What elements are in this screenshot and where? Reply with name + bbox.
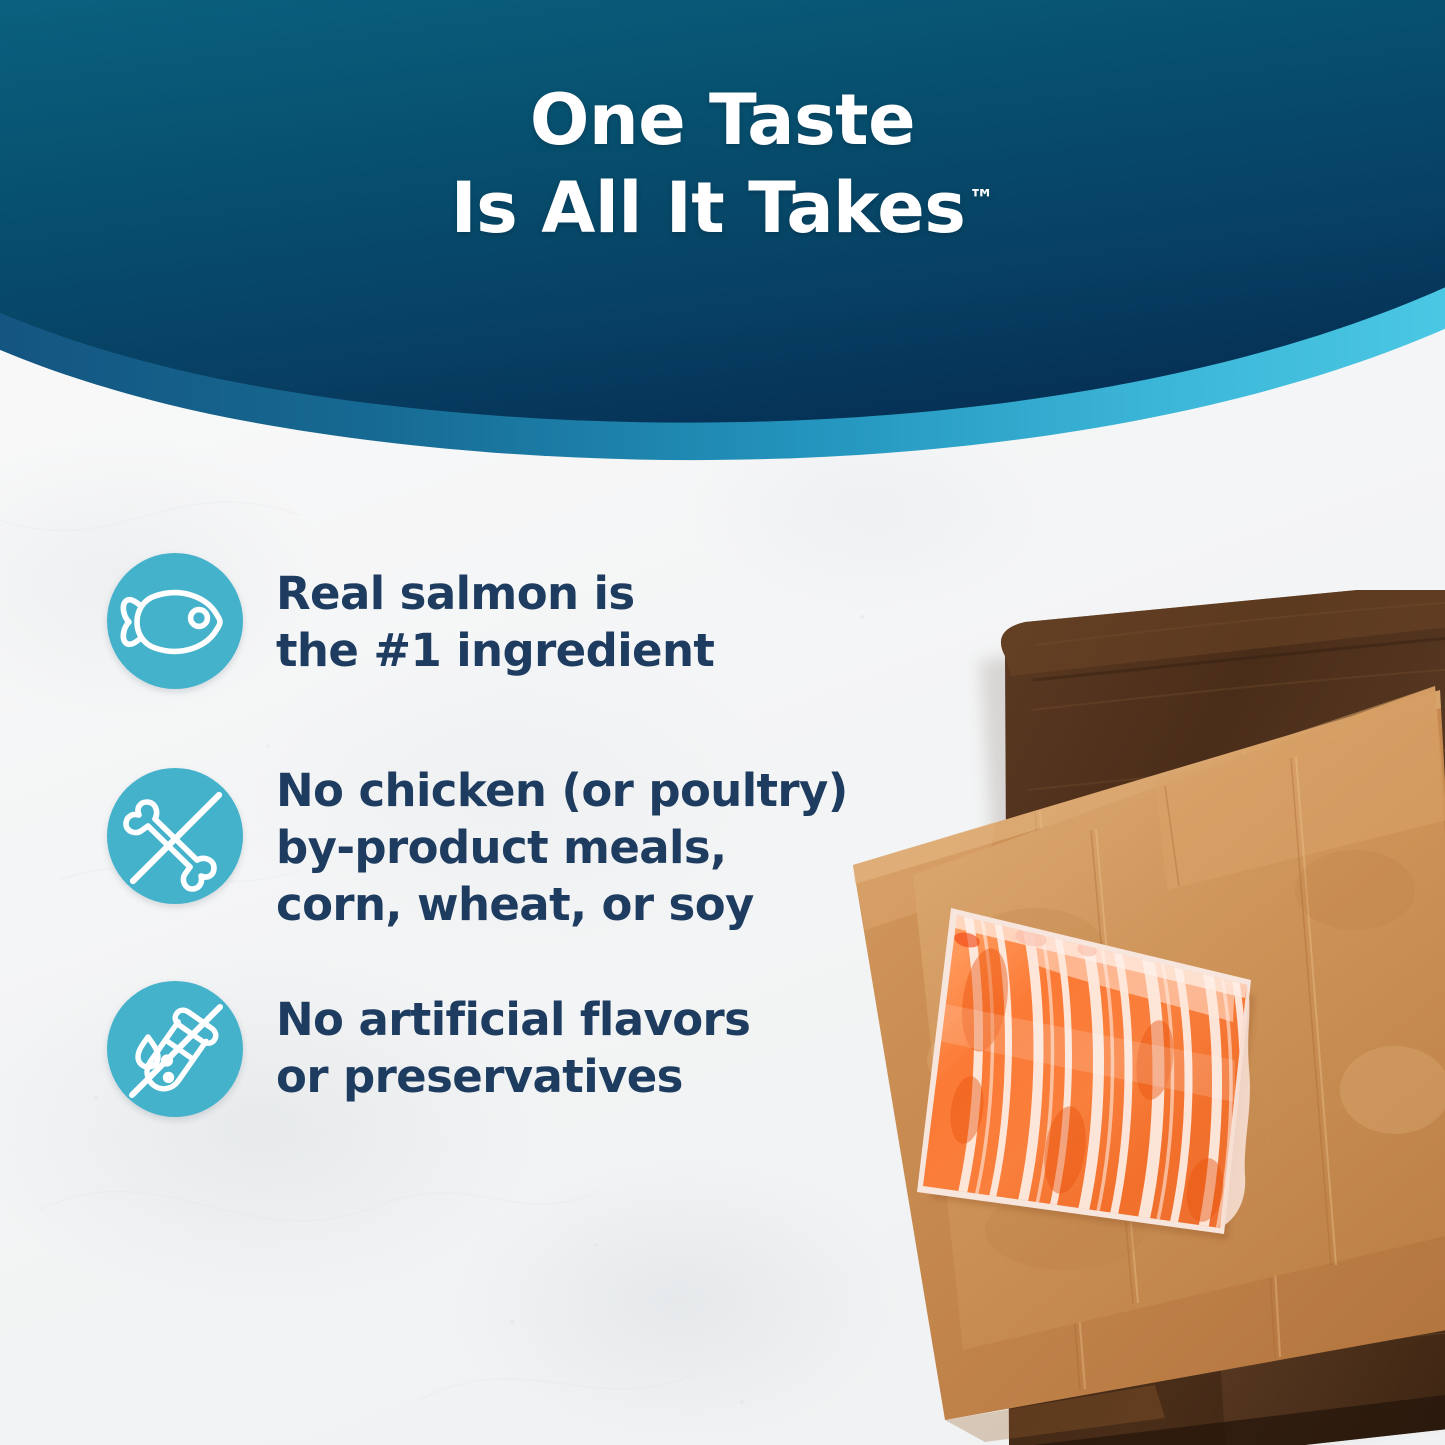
list-item-label: No artificial flavors or preservatives <box>276 991 750 1105</box>
list-item: No artificial flavors or preservatives <box>107 981 750 1117</box>
headline-line-2: Is All It Takes <box>451 167 966 249</box>
list-item-label: No chicken (or poultry) by-product meals… <box>276 762 848 933</box>
page-title: One Taste Is All It Takes™ <box>0 76 1445 252</box>
no-test-tube-icon-badge <box>107 981 243 1117</box>
list-item: No chicken (or poultry) by-product meals… <box>107 768 848 933</box>
fish-icon <box>107 553 243 689</box>
trademark-symbol: ™ <box>968 185 994 215</box>
list-item-label: Real salmon is the #1 ingredient <box>276 565 714 679</box>
no-bone-icon-badge <box>107 768 243 904</box>
list-item: Real salmon is the #1 ingredient <box>107 553 714 689</box>
no-test-tube-icon <box>107 981 243 1117</box>
marketing-infographic: One Taste Is All It Takes™ <box>0 0 1445 1445</box>
headline-line-1: One Taste <box>0 76 1445 164</box>
no-bone-icon <box>107 768 243 904</box>
fish-icon-badge <box>107 553 243 689</box>
